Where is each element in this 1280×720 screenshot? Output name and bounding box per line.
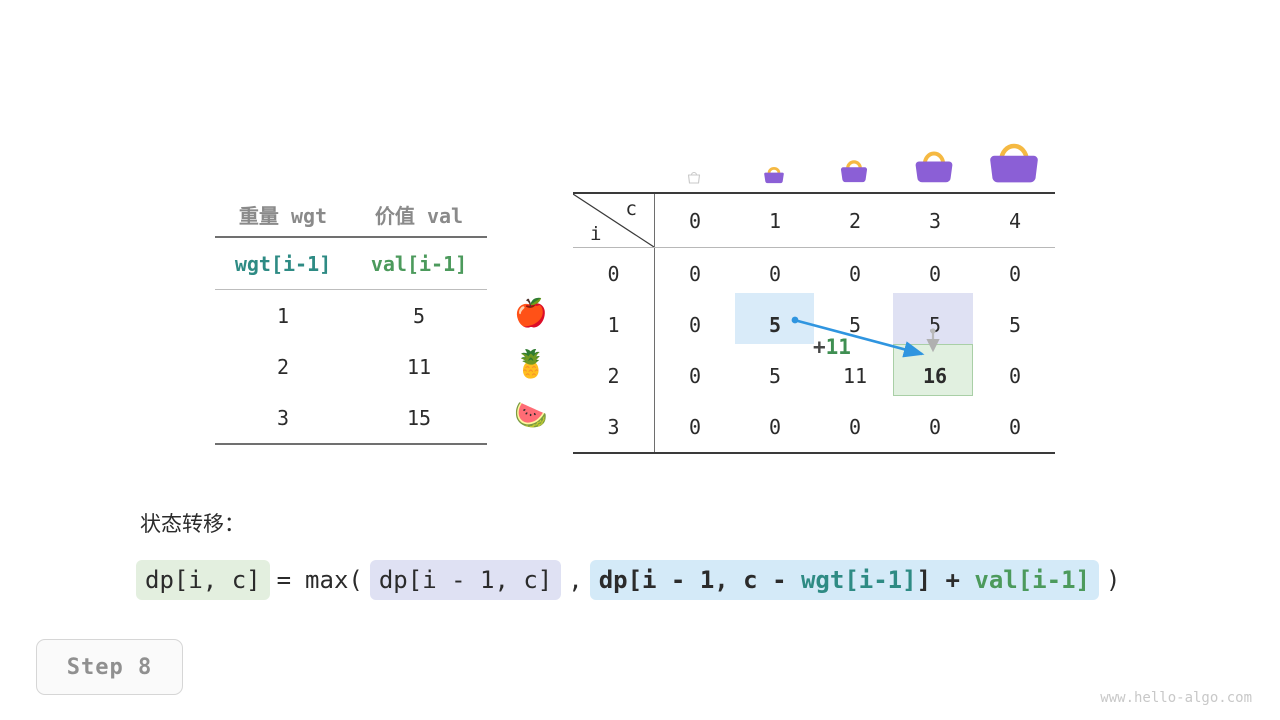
dp-table: c i 0 1 2 3 4 0 0 0 0 0 0 1 0 5 5 5 5 2 [573,192,1054,454]
bag-capacity-row [573,128,1054,188]
dp-col-axis-label: c [626,198,637,220]
dp-cell-2-4: 0 [975,350,1055,401]
formula-arg-take-prefix: dp[i - 1, c - [599,566,801,594]
dp-cell-3-1: 0 [735,401,815,453]
diagonal-divider-icon [573,194,654,247]
item-table-subheader-row: wgt[i-1] val[i-1] [215,237,487,290]
dp-col-header-1: 1 [735,193,815,248]
dp-col-header-0: 0 [655,193,736,248]
item-table-header-val: 价值 val [351,192,487,237]
item-table-header-wgt: 重量 wgt [215,192,351,237]
dp-cell-0-4: 0 [975,248,1055,300]
step-badge: Step 8 [36,639,183,695]
bag-icon-3 [894,142,974,188]
item-table-subheader-wgt: wgt[i-1] [215,237,351,290]
formula-arg-take: dp[i - 1, c - wgt[i-1]] + val[i-1] [590,560,1099,600]
dp-cell-2-3: 16 [895,350,975,401]
item-table-subheader-val: val[i-1] [351,237,487,290]
formula-arg-skip: dp[i - 1, c] [370,560,561,600]
item-wgt-1: 1 [215,290,351,342]
fruit-icon-column: 🍎 🍍 🍉 [508,288,554,441]
formula-token-val: val[i-1] [974,566,1090,594]
formula-comma: , [561,566,589,594]
dp-header-row: c i 0 1 2 3 4 [573,193,1055,248]
dp-row-header-1: 1 [573,299,655,350]
dp-cell-0-2: 0 [815,248,895,300]
dp-cell-1-1: 5 [735,299,815,350]
item-val-1: 5 [351,290,487,342]
state-transition-label: 状态转移： [140,508,245,538]
item-table-row: 3 15 [215,392,487,444]
bag-icon-2 [814,152,894,188]
dp-row-header-3: 3 [573,401,655,453]
watermelon-icon: 🍉 [508,390,554,441]
formula-token-wgt: wgt[i-1] [801,566,917,594]
bag-icon-small [760,160,788,188]
dp-cell-0-3: 0 [895,248,975,300]
gain-value: 11 [826,335,851,359]
dp-cell-1-0: 0 [655,299,736,350]
formula-close-paren: ) [1099,566,1127,594]
dp-cell-0-0: 0 [655,248,736,300]
gain-annotation: +11 [813,335,851,359]
item-wgt-2: 2 [215,341,351,392]
bag-icon-medium [836,152,872,188]
item-table-row: 2 11 [215,341,487,392]
dp-row: 3 0 0 0 0 0 [573,401,1055,453]
dp-corner-header: c i [573,193,655,248]
dp-cell-2-0: 0 [655,350,736,401]
dp-row: 0 0 0 0 0 0 [573,248,1055,300]
pineapple-icon: 🍍 [508,339,554,390]
item-val-3: 15 [351,392,487,444]
dp-cell-2-1: 5 [735,350,815,401]
item-table: 重量 wgt 价值 val wgt[i-1] val[i-1] 1 5 2 11… [215,192,487,445]
state-transition-formula: dp[i, c] = max( dp[i - 1, c] , dp[i - 1,… [136,560,1127,600]
bag-icon-xlarge [986,132,1042,188]
dp-col-header-4: 4 [975,193,1055,248]
item-table-row: 1 5 [215,290,487,342]
dp-row-header-2: 2 [573,350,655,401]
item-val-2: 11 [351,341,487,392]
dp-row-header-0: 0 [573,248,655,300]
apple-icon: 🍎 [508,288,554,339]
dp-cell-3-4: 0 [975,401,1055,453]
formula-max-fn: max( [298,566,370,594]
watermark: www.hello-algo.com [1100,690,1252,706]
bag-icon-empty [684,168,704,188]
dp-cell-3-3: 0 [895,401,975,453]
bag-icon-1 [734,160,814,188]
formula-result: dp[i, c] [136,560,270,600]
dp-col-header-3: 3 [895,193,975,248]
bag-icon-large [911,142,957,188]
dp-cell-1-3: 5 [895,299,975,350]
bag-icon-4 [974,132,1054,188]
dp-cell-1-4: 5 [975,299,1055,350]
formula-equals: = [270,566,298,594]
dp-col-header-2: 2 [815,193,895,248]
bag-icon-0 [654,168,734,188]
gain-sign: + [813,335,826,359]
dp-cell-0-1: 0 [735,248,815,300]
formula-arg-take-mid: ] + [917,566,975,594]
dp-cell-3-0: 0 [655,401,736,453]
item-table-header-row: 重量 wgt 价值 val [215,192,487,237]
dp-cell-3-2: 0 [815,401,895,453]
item-wgt-3: 3 [215,392,351,444]
dp-row-axis-label: i [590,223,601,245]
